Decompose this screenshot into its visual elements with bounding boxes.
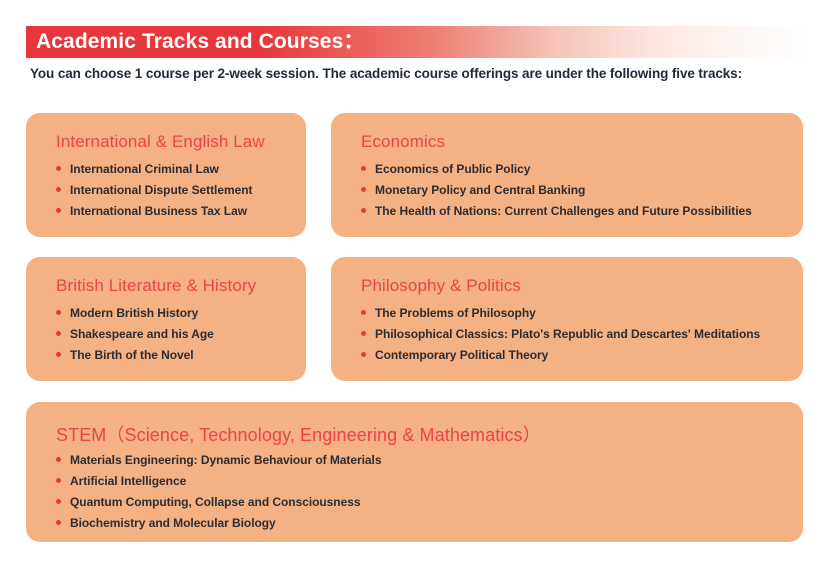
bullet-icon — [56, 331, 61, 336]
track-card-philosophy-politics: Philosophy & Politics The Problems of Ph… — [331, 257, 803, 381]
course-label: The Problems of Philosophy — [375, 306, 536, 320]
bullet-icon — [361, 310, 366, 315]
bullet-icon — [361, 166, 366, 171]
bullet-icon — [361, 187, 366, 192]
course-label: Materials Engineering: Dynamic Behaviour… — [70, 453, 381, 467]
list-item: The Problems of Philosophy — [361, 303, 791, 324]
list-item: Biochemistry and Molecular Biology — [56, 513, 791, 534]
track-card-international-english-law: International & English Law Internationa… — [26, 113, 306, 237]
bullet-icon — [56, 310, 61, 315]
list-item: International Business Tax Law — [56, 201, 294, 222]
track-card-economics: Economics Economics of Public Policy Mon… — [331, 113, 803, 237]
bullet-icon — [56, 166, 61, 171]
course-label: International Business Tax Law — [70, 204, 247, 218]
bullet-icon — [56, 208, 61, 213]
bullet-icon — [56, 352, 61, 357]
list-item: Artificial Intelligence — [56, 471, 791, 492]
bullet-icon — [361, 352, 366, 357]
track-title: STEM（Science, Technology, Engineering & … — [56, 421, 541, 447]
track-card-stem: STEM（Science, Technology, Engineering & … — [26, 402, 803, 542]
course-label: Biochemistry and Molecular Biology — [70, 516, 276, 530]
list-item: International Criminal Law — [56, 159, 294, 180]
course-label: Shakespeare and his Age — [70, 327, 214, 341]
track-title: Philosophy & Politics — [361, 276, 521, 296]
course-label: Contemporary Political Theory — [375, 348, 548, 362]
bullet-icon — [56, 187, 61, 192]
list-item: Quantum Computing, Collapse and Consciou… — [56, 492, 791, 513]
list-item: Economics of Public Policy — [361, 159, 791, 180]
track-title: International & English Law — [56, 132, 265, 152]
page-subtitle: You can choose 1 course per 2-week sessi… — [30, 66, 742, 81]
list-item: Shakespeare and his Age — [56, 324, 294, 345]
list-item: International Dispute Settlement — [56, 180, 294, 201]
page-title: Academic Tracks and Courses： — [36, 28, 364, 56]
list-item: The Birth of the Novel — [56, 345, 294, 366]
course-label: International Dispute Settlement — [70, 183, 252, 197]
track-title: Economics — [361, 132, 445, 152]
course-label: The Birth of the Novel — [70, 348, 194, 362]
course-list: Materials Engineering: Dynamic Behaviour… — [56, 450, 791, 534]
bullet-icon — [361, 208, 366, 213]
track-title: British Literature & History — [56, 276, 256, 296]
course-label: Artificial Intelligence — [70, 474, 186, 488]
course-list: The Problems of Philosophy Philosophical… — [361, 303, 791, 366]
list-item: The Health of Nations: Current Challenge… — [361, 201, 791, 222]
list-item: Contemporary Political Theory — [361, 345, 791, 366]
course-label: International Criminal Law — [70, 162, 219, 176]
bullet-icon — [56, 499, 61, 504]
bullet-icon — [56, 457, 61, 462]
course-list: Economics of Public Policy Monetary Poli… — [361, 159, 791, 222]
course-label: Monetary Policy and Central Banking — [375, 183, 585, 197]
course-label: Philosophical Classics: Plato's Republic… — [375, 327, 760, 341]
course-label: Quantum Computing, Collapse and Consciou… — [70, 495, 360, 509]
course-label: Economics of Public Policy — [375, 162, 530, 176]
list-item: Materials Engineering: Dynamic Behaviour… — [56, 450, 791, 471]
course-list: International Criminal Law International… — [56, 159, 294, 222]
list-item: Philosophical Classics: Plato's Republic… — [361, 324, 791, 345]
course-label: Modern British History — [70, 306, 198, 320]
course-list: Modern British History Shakespeare and h… — [56, 303, 294, 366]
course-label: The Health of Nations: Current Challenge… — [375, 204, 752, 218]
list-item: Monetary Policy and Central Banking — [361, 180, 791, 201]
academic-tracks-page: Academic Tracks and Courses： You can cho… — [0, 0, 836, 563]
list-item: Modern British History — [56, 303, 294, 324]
bullet-icon — [361, 331, 366, 336]
bullet-icon — [56, 478, 61, 483]
bullet-icon — [56, 520, 61, 525]
track-card-british-literature-history: British Literature & History Modern Brit… — [26, 257, 306, 381]
